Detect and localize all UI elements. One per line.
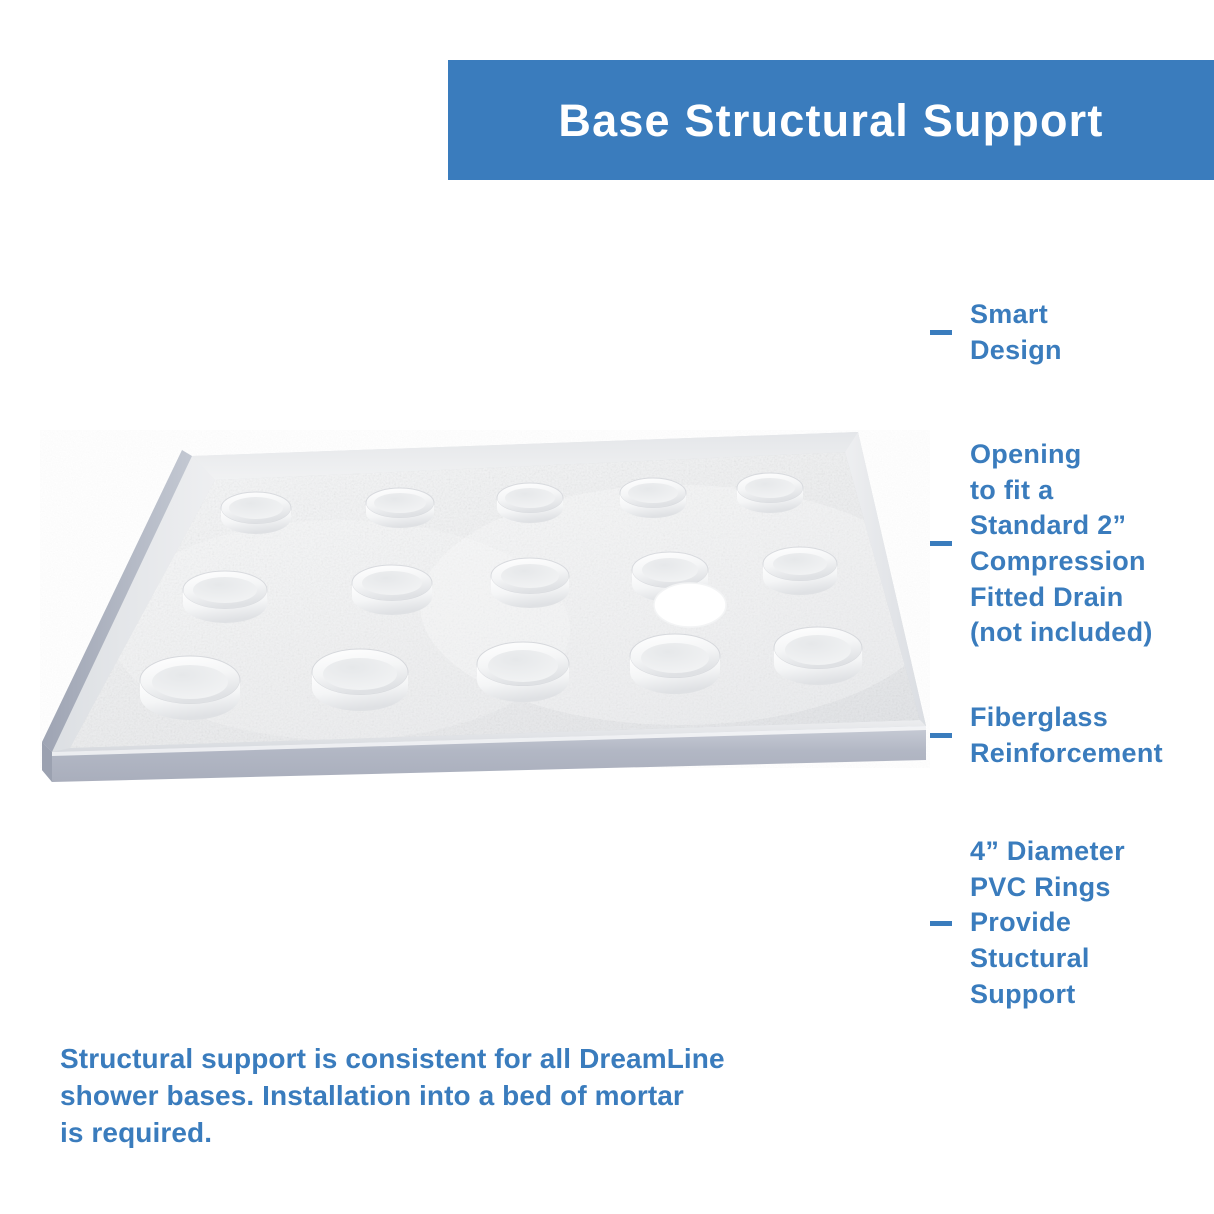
pvc-ring xyxy=(352,565,432,615)
callout-label: Smart Design xyxy=(970,297,1062,368)
pvc-ring xyxy=(183,571,267,623)
pvc-ring xyxy=(774,627,862,685)
pvc-ring xyxy=(497,483,563,523)
pvc-ring xyxy=(221,492,291,534)
footnote-text: Structural support is consistent for all… xyxy=(60,1040,820,1152)
product-illustration xyxy=(40,430,930,800)
page-title: Base Structural Support xyxy=(558,98,1103,143)
pvc-ring xyxy=(630,634,720,694)
header-banner: Base Structural Support xyxy=(448,60,1214,180)
pvc-ring xyxy=(140,656,240,720)
pvc-ring xyxy=(366,488,434,528)
dash-marker-icon xyxy=(930,733,952,738)
callout-pvc-rings: 4” Diameter PVC Rings Provide Stuctural … xyxy=(930,834,1125,1012)
callout-label: Fiberglass Reinforcement xyxy=(970,700,1163,771)
callout-fiberglass: Fiberglass Reinforcement xyxy=(930,700,1163,771)
shower-base-3d-graphic xyxy=(40,430,930,800)
pvc-ring xyxy=(477,642,569,702)
callout-drain-opening: Opening to fit a Standard 2” Compression… xyxy=(930,437,1153,651)
pvc-ring xyxy=(491,558,569,608)
pvc-ring xyxy=(312,649,408,711)
dash-marker-icon xyxy=(930,330,952,335)
pvc-ring xyxy=(620,478,686,518)
dash-marker-icon xyxy=(930,921,952,926)
callout-label: 4” Diameter PVC Rings Provide Stuctural … xyxy=(970,834,1125,1012)
pvc-ring xyxy=(763,547,837,595)
pvc-ring xyxy=(737,473,803,513)
callout-smart-design: Smart Design xyxy=(930,297,1062,368)
drain-opening xyxy=(654,583,726,627)
dash-marker-icon xyxy=(930,541,952,546)
callout-label: Opening to fit a Standard 2” Compression… xyxy=(970,437,1153,651)
